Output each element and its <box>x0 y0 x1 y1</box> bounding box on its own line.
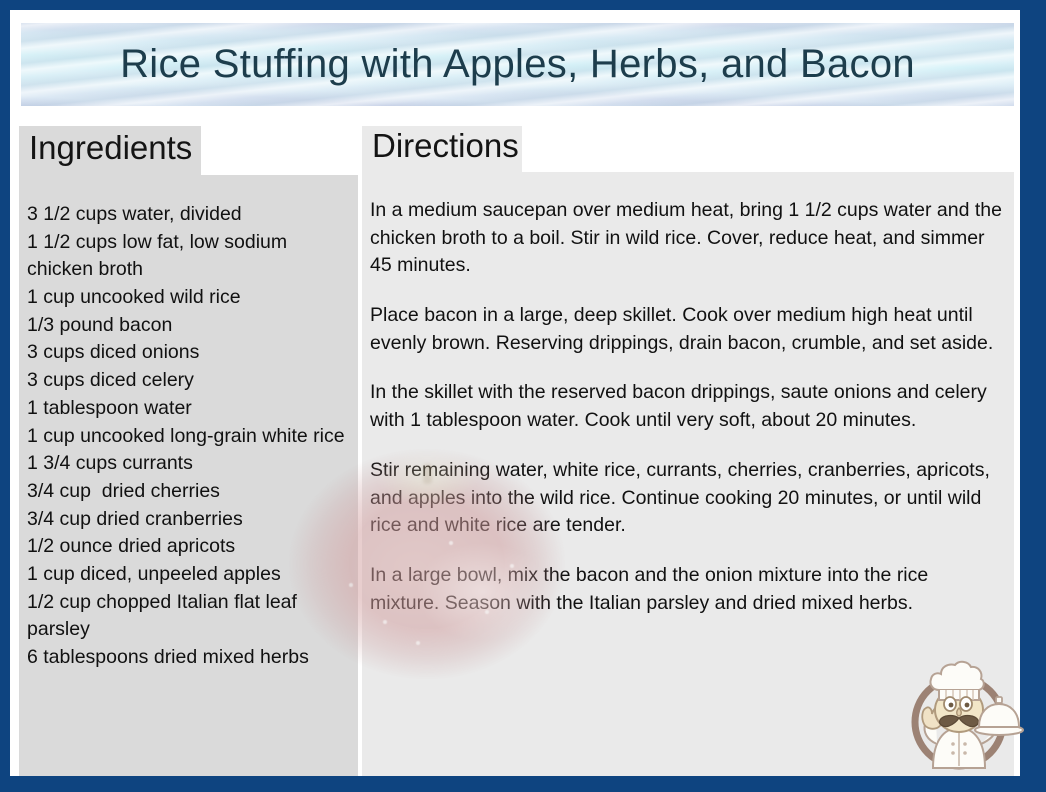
ingredients-list: 3 1/2 cups water, divided1 1/2 cups low … <box>27 201 350 672</box>
directions-heading: Directions <box>362 124 533 168</box>
ingredients-panel: 3 1/2 cups water, divided1 1/2 cups low … <box>19 175 358 776</box>
direction-step: In a medium saucepan over medium heat, b… <box>370 197 1002 280</box>
ingredient-item: 1/2 ounce dried apricots <box>27 533 350 561</box>
ingredient-item: 3 cups diced celery <box>27 367 350 395</box>
ingredient-item: 6 tablespoons dried mixed herbs <box>27 644 350 672</box>
direction-step: Place bacon in a large, deep skillet. Co… <box>370 302 1002 357</box>
directions-steps: In a medium saucepan over medium heat, b… <box>370 197 1002 617</box>
direction-step: In the skillet with the reserved bacon d… <box>370 379 1002 434</box>
ingredient-item: 1 cup diced, unpeeled apples <box>27 561 350 589</box>
ingredient-item: 3/4 cup dried cranberries <box>27 506 350 534</box>
ingredient-item: 3 1/2 cups water, divided <box>27 201 350 229</box>
ingredients-column: Ingredients 3 1/2 cups water, divided1 1… <box>19 126 358 776</box>
direction-step: Stir remaining water, white rice, curran… <box>370 457 1002 540</box>
page-title: Rice Stuffing with Apples, Herbs, and Ba… <box>120 44 915 86</box>
ingredients-heading-row: Ingredients <box>19 126 358 175</box>
ingredient-item: 1 cup uncooked wild rice <box>27 284 350 312</box>
direction-step: In a large bowl, mix the bacon and the o… <box>370 562 1002 617</box>
ingredient-item: 3/4 cup dried cherries <box>27 478 350 506</box>
ingredient-item: 1 3/4 cups currants <box>27 450 350 478</box>
recipe-card-page: Rice Stuffing with Apples, Herbs, and Ba… <box>0 0 1046 792</box>
title-banner: Rice Stuffing with Apples, Herbs, and Ba… <box>21 23 1014 106</box>
ingredient-item: 1 1/2 cups low fat, low sodium chicken b… <box>27 229 350 284</box>
ingredient-item: 1/3 pound bacon <box>27 312 350 340</box>
directions-heading-row: Directions <box>362 126 1014 172</box>
ingredient-item: 1/2 cup chopped Italian flat leaf parsle… <box>27 589 350 644</box>
ingredients-heading: Ingredients <box>19 126 206 170</box>
border-bottom <box>0 776 1046 792</box>
border-left <box>0 0 10 792</box>
border-top <box>0 0 1046 10</box>
chef-mascot-logo <box>893 648 1025 780</box>
ingredient-item: 3 cups diced onions <box>27 339 350 367</box>
ingredient-item: 1 cup uncooked long-grain white rice <box>27 423 350 451</box>
ingredient-item: 1 tablespoon water <box>27 395 350 423</box>
